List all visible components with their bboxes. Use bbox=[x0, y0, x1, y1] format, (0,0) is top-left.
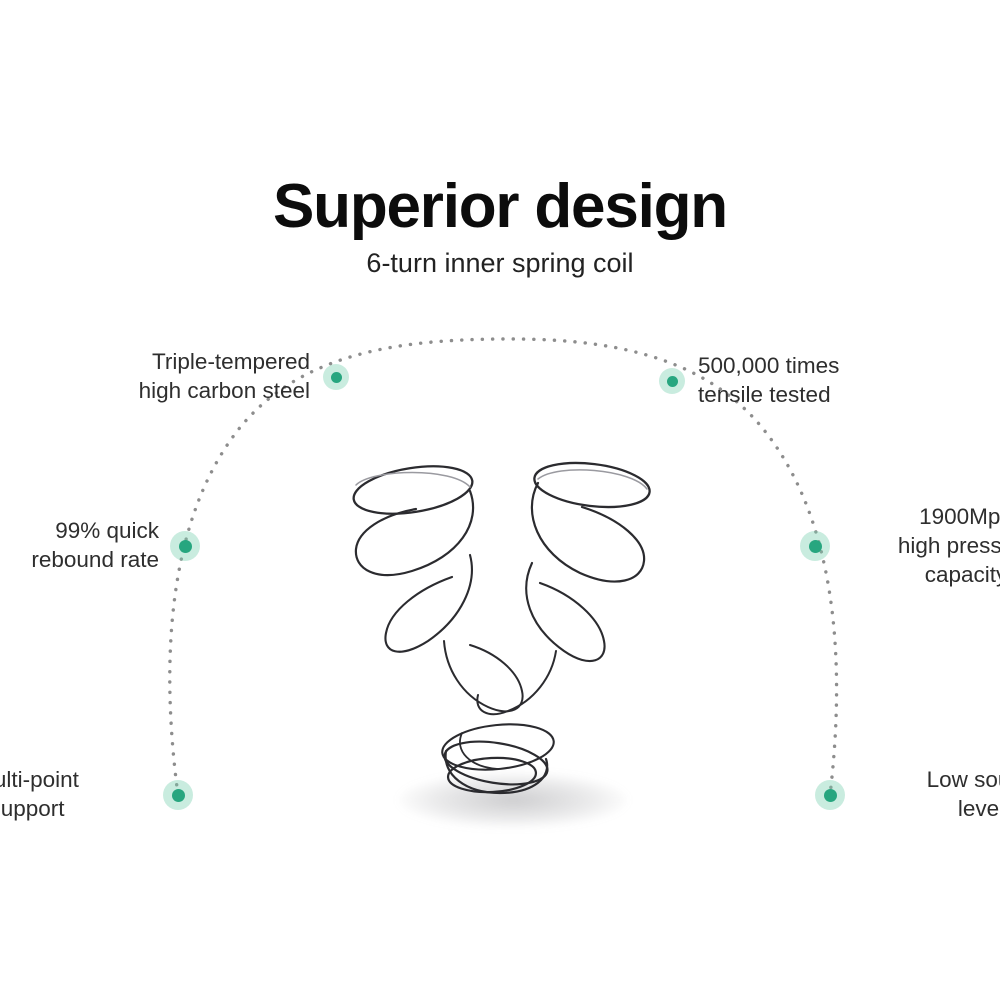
marker-dot-icon bbox=[172, 789, 185, 802]
infographic-page: Superior design 6-turn inner spring coil bbox=[0, 0, 1000, 1000]
callout-label-pressure-capacity: 1900Mpa high pressure capacity bbox=[841, 502, 1000, 589]
callout-marker-pressure-capacity[interactable] bbox=[800, 531, 830, 561]
marker-dot-icon bbox=[809, 540, 822, 553]
marker-dot-icon bbox=[331, 372, 342, 383]
callout-label-low-sound-level: Low sound level bbox=[856, 765, 1000, 823]
callout-label-triple-tempered: Triple-tempered high carbon steel bbox=[60, 347, 310, 405]
callout-marker-rebound-rate[interactable] bbox=[170, 531, 200, 561]
callout-marker-low-sound-level[interactable] bbox=[815, 780, 845, 810]
callout-label-tensile-tested: 500,000 times tensile tested bbox=[698, 351, 948, 409]
callout-label-multi-point-support: Multi-point support bbox=[0, 765, 152, 823]
marker-dot-icon bbox=[179, 540, 192, 553]
marker-dot-icon bbox=[667, 376, 678, 387]
callout-label-rebound-rate: 99% quick rebound rate bbox=[0, 516, 159, 574]
callout-marker-multi-point-support[interactable] bbox=[163, 780, 193, 810]
marker-dot-icon bbox=[824, 789, 837, 802]
callout-marker-tensile-tested[interactable] bbox=[659, 368, 685, 394]
spring-coil-svg bbox=[320, 445, 680, 825]
spring-coil-image bbox=[320, 445, 680, 825]
callout-marker-triple-tempered[interactable] bbox=[323, 364, 349, 390]
